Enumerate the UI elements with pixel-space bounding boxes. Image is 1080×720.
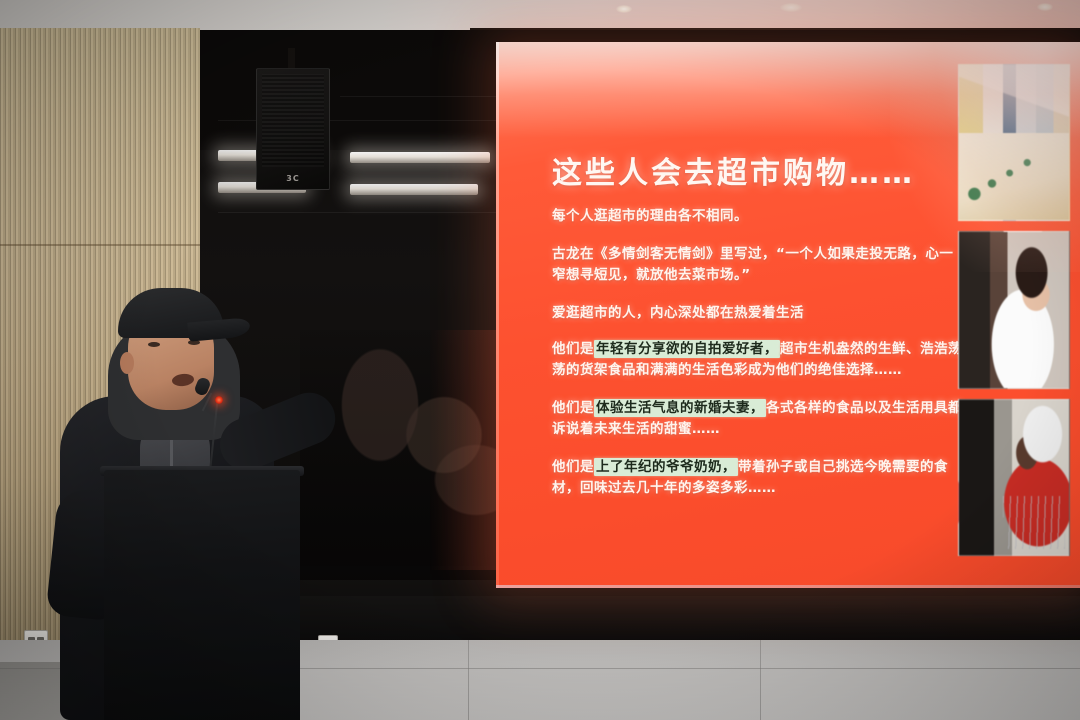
screen-edge-bottom: [496, 585, 1080, 588]
highlighted-phrase: 上了年纪的爷爷奶奶，: [594, 458, 738, 476]
floor-grout-line: [468, 640, 469, 720]
microphone-status-light: [215, 396, 223, 404]
projection-screen: 这些人会去超市购物…… 每个人逛超市的理由各不相同。 古龙在《多情剑客无情剑》里…: [496, 42, 1080, 588]
slide-paragraph: 每个人逛超市的理由各不相同。: [552, 206, 966, 227]
screen-light-spill: [430, 330, 500, 570]
slide-photo-checkout-shopper: [958, 399, 1070, 556]
slide-highlight-paragraph: 他们是年轻有分享欲的自拍爱好者，超市生机盎然的生鲜、浩浩荡荡的货架食品和满满的生…: [552, 339, 966, 381]
presenter-cap-brim: [187, 317, 250, 341]
slide-surface: 这些人会去超市购物…… 每个人逛超市的理由各不相同。 古龙在《多情剑客无情剑》里…: [496, 42, 1080, 588]
ceiling-downlight-icon: [1037, 3, 1053, 11]
wall-light-strip: [350, 152, 490, 163]
highlighted-phrase: 年轻有分享欲的自拍爱好者，: [594, 340, 780, 358]
ceiling-downlight-icon: [616, 5, 632, 13]
slide-photo-woman-shopper: [958, 231, 1070, 388]
wall-speaker: 3C: [256, 68, 330, 190]
speaker-brand-label: 3C: [286, 174, 299, 183]
presenter-ear: [120, 352, 134, 374]
wall-panel-line: [218, 212, 498, 213]
podium: [104, 470, 300, 720]
presenter-eye: [148, 342, 160, 347]
screen-edge-left: [496, 42, 499, 588]
wall-panel-line: [340, 96, 498, 97]
paragraph-lead: 他们是: [552, 341, 594, 357]
wood-wall-seam: [0, 244, 200, 246]
wall-light-strip: [350, 184, 478, 195]
paragraph-lead: 他们是: [552, 459, 594, 475]
slide-photo-strip: [958, 64, 1070, 556]
slide-body-text: 每个人逛超市的理由各不相同。 古龙在《多情剑客无情剑》里写过，“一个人如果走投无…: [552, 206, 966, 516]
speaker-mount-bracket: [288, 48, 295, 70]
slide-paragraph: 爱逛超市的人，内心深处都在热爱着生活: [552, 303, 966, 324]
paragraph-lead: 他们是: [552, 400, 594, 416]
floor-grout-line: [760, 640, 761, 720]
slide-highlight-paragraph: 他们是体验生活气息的新婚夫妻，各式各样的食品以及生活用具都诉说着未来生活的甜蜜……: [552, 398, 966, 440]
slide-photo-supermarket-shelves: [958, 64, 1070, 221]
slide-paragraph: 古龙在《多情剑客无情剑》里写过，“一个人如果走投无路，心一窄想寻短见，就放他去菜…: [552, 244, 966, 286]
highlighted-phrase: 体验生活气息的新婚夫妻，: [594, 399, 766, 417]
ceiling-downlight-icon: [780, 3, 802, 12]
presentation-photo-scene: 3C 这些人会去超市购物…… 每个人逛超市的理由各不相同。 古龙在《多情剑客无情…: [0, 0, 1080, 720]
slide-highlight-paragraph: 他们是上了年纪的爷爷奶奶，带着孙子或自己挑选今晚需要的食材，回味过去几十年的多姿…: [552, 457, 966, 499]
slide-title: 这些人会去超市购物……: [552, 148, 982, 192]
